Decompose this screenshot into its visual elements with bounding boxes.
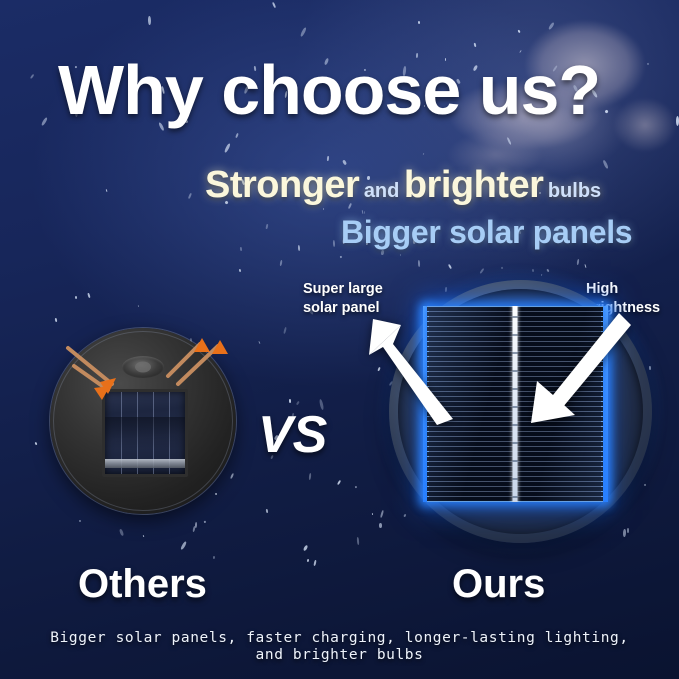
product-others [50,328,236,514]
subheadline-line-2: Bigger solar panels [341,214,632,251]
caption-line-2: and brighter bulbs [0,647,679,664]
subheadline-line-1: Stronger and brighter bulbs [205,164,601,207]
callout-left-line-1: Super large [303,280,383,299]
label-ours: Ours [452,562,545,607]
caption-line-1: Bigger solar panels, faster charging, lo… [50,630,628,646]
arrow-down-left-icon [523,303,631,429]
arrow-up-left-icon [367,297,457,425]
ours-busbar [513,306,518,502]
page-title: Why choose us? [58,50,600,130]
promo-graphic: Why choose us? Stronger and brighter bul… [0,0,679,679]
subheadline-brighter: brighter [404,164,544,206]
vs-label: VS [258,405,327,465]
label-others: Others [78,562,207,607]
subheadline-stronger: Stronger [205,164,359,206]
others-arrow-markers [50,328,236,408]
subheadline-bulbs: bulbs [548,180,601,202]
subheadline-and: and [364,180,400,202]
footer-caption: Bigger solar panels, faster charging, lo… [0,630,679,664]
